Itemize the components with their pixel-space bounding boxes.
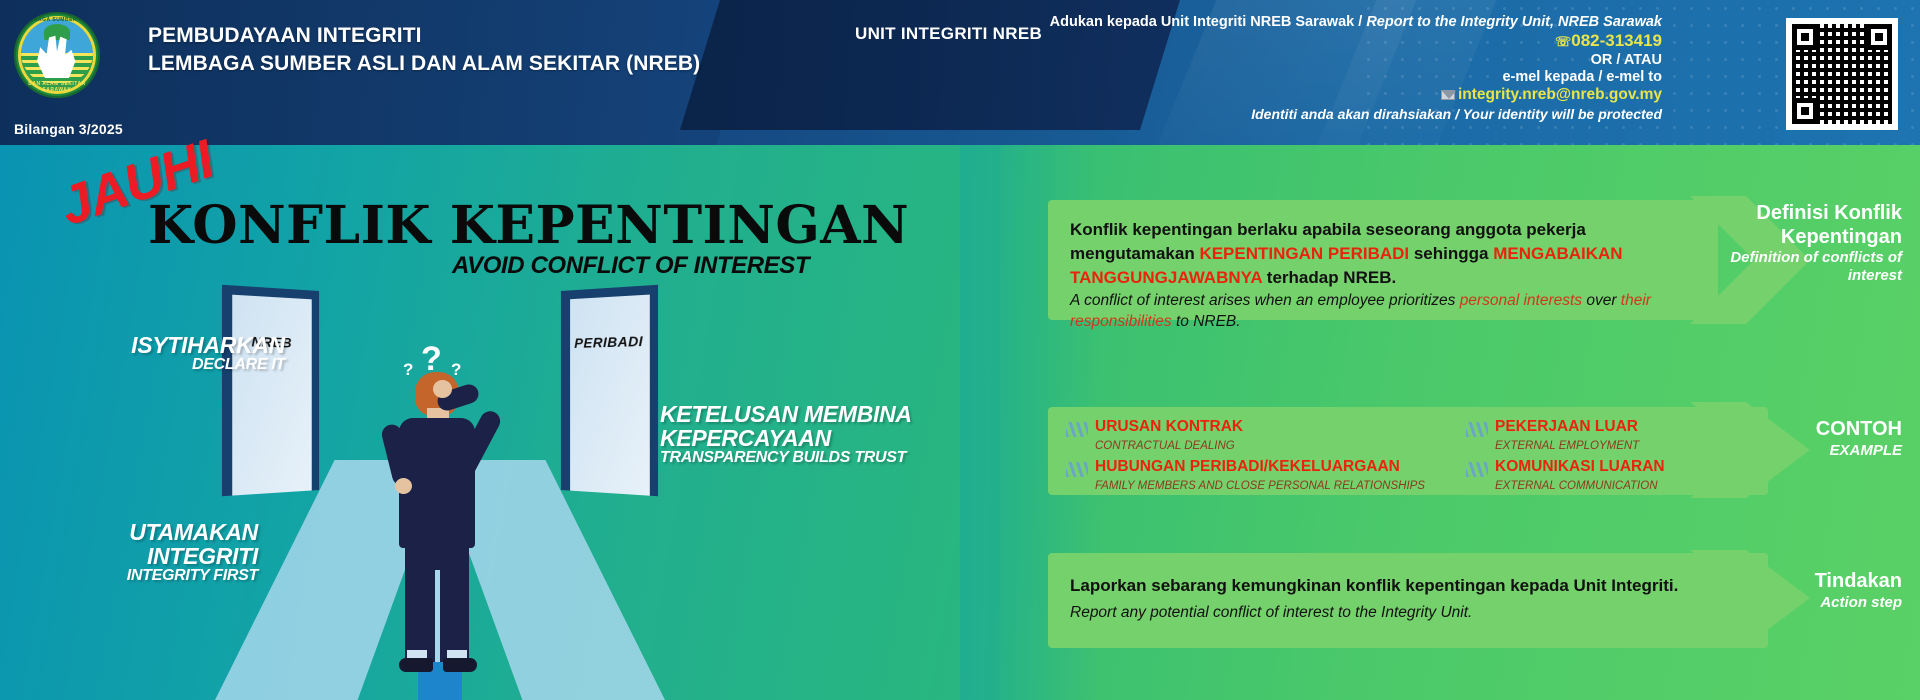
door-nreb: NREB — [222, 285, 319, 496]
examples-tab-en: EXAMPLE — [1702, 442, 1902, 460]
example-ms: PEKERJAAN LUAR — [1495, 418, 1638, 435]
bullet-stripes-icon — [1466, 422, 1488, 437]
contact-block: Adukan kepada Unit Integriti NREB Sarawa… — [922, 14, 1662, 122]
report-line: Adukan kepada Unit Integriti NREB Sarawa… — [922, 14, 1662, 30]
person-left-hand — [395, 478, 412, 494]
person-right-shoe — [443, 658, 477, 672]
qr-finder-bottom-left — [1792, 98, 1818, 124]
org-title-line1: PEMBUDAYAAN INTEGRITI — [148, 22, 700, 50]
person-figure: ? ? ? — [375, 358, 505, 678]
definition-tab-en: Definition of conflicts of interest — [1702, 249, 1902, 284]
slogan-integrity-ms: UTAMAKAN INTEGRITI — [28, 520, 258, 568]
slogan-declare-ms: ISYTIHARKAN — [105, 333, 285, 357]
identity-note: Identiti anda akan dirahsiakan / Your id… — [922, 106, 1662, 122]
logo-leaf-icon — [44, 24, 70, 40]
slogan-transparency-ms: KETELUSAN MEMBINA KEPERCAYAAN — [660, 402, 960, 450]
definition-en-part3: to NREB. — [1172, 313, 1241, 330]
definition-ms-part2: sehingga — [1409, 244, 1493, 263]
definition-text-ms: Konflik kepentingan berlaku apabila sese… — [1070, 218, 1700, 290]
example-en: CONTRACTUAL DEALING — [1095, 440, 1235, 452]
action-panel — [1048, 553, 1768, 648]
example-en: EXTERNAL EMPLOYMENT — [1495, 440, 1639, 452]
person-left-shoe — [399, 658, 433, 672]
action-tab-ms: Tindakan — [1702, 570, 1902, 594]
example-ms: HUBUNGAN PERIBADI/KEKELUARGAAN — [1095, 458, 1400, 475]
door-nreb-opening — [232, 295, 312, 496]
or-label: OR / ATAU — [922, 52, 1662, 68]
email-label: e-mel kepada / e-mel to — [922, 69, 1662, 85]
issue-number: Bilangan 3/2025 — [14, 121, 123, 137]
example-en: FAMILY MEMBERS AND CLOSE PERSONAL RELATI… — [1095, 480, 1425, 492]
bullet-stripes-icon — [1466, 462, 1488, 477]
question-mark-small-left: ? — [403, 360, 413, 380]
action-tab-en: Action step — [1702, 594, 1902, 612]
definition-ms-part3: terhadap NREB. — [1262, 268, 1396, 287]
qr-finder-top-right — [1866, 24, 1892, 50]
list-item: KOMUNIKASI LUARAN EXTERNAL COMMUNICATION — [1466, 458, 1766, 494]
example-ms: KOMUNIKASI LUARAN — [1495, 458, 1665, 475]
infographic-poster: LEMBAGA SUMBER ASLI DAN ALAM SEKITAR SAR… — [0, 0, 1920, 700]
definition-tab-label: Definisi Konflik Kepentingan Definition … — [1702, 202, 1902, 285]
door-peribadi: PERIBADI — [561, 285, 658, 496]
page-title: KONFLIK KEPENTINGAN — [148, 195, 909, 256]
report-line-ms: Adukan kepada Unit Integriti NREB Sarawa… — [1050, 14, 1355, 30]
slogan-transparency: KETELUSAN MEMBINA KEPERCAYAAN TRANSPAREN… — [660, 402, 960, 467]
list-item: URUSAN KONTRAK CONTRACTUAL DEALING — [1066, 418, 1466, 454]
definition-tab-ms: Definisi Konflik Kepentingan — [1702, 202, 1902, 249]
examples-list: URUSAN KONTRAK CONTRACTUAL DEALING PEKER… — [1066, 418, 1766, 494]
slogan-integrity: UTAMAKAN INTEGRITI INTEGRITY FIRST — [28, 520, 258, 585]
definition-en-part2: over — [1582, 292, 1621, 309]
slogan-transparency-en: TRANSPARENCY BUILDS TRUST — [660, 450, 960, 467]
phone-icon: ☏ — [1555, 34, 1571, 49]
report-line-separator: / — [1358, 14, 1362, 30]
person-leg-gap — [435, 570, 440, 662]
envelope-icon — [1441, 90, 1455, 100]
phone-number: 082-313419 — [1571, 31, 1662, 50]
action-tab-label: Tindakan Action step — [1702, 570, 1902, 611]
examples-tab-ms: CONTOH — [1702, 418, 1902, 442]
door-peribadi-label: PERIBADI — [561, 332, 658, 351]
page-header: LEMBAGA SUMBER ASLI DAN ALAM SEKITAR SAR… — [0, 0, 1920, 145]
report-line-en: Report to the Integrity Unit, NREB Saraw… — [1366, 14, 1662, 30]
email-address: integrity.nreb@nreb.gov.my — [1458, 86, 1662, 103]
qr-code[interactable] — [1786, 18, 1898, 130]
slogan-declare: ISYTIHARKAN DECLARE IT — [105, 333, 285, 374]
doors-illustration: NREB PERIBADI ? ? ? — [230, 270, 650, 700]
contact-email[interactable]: integrity.nreb@nreb.gov.my — [922, 86, 1662, 104]
example-en: EXTERNAL COMMUNICATION — [1495, 480, 1658, 492]
org-title-line2: LEMBAGA SUMBER ASLI DAN ALAM SEKITAR (NR… — [148, 50, 700, 78]
qr-code-pattern — [1792, 24, 1892, 124]
person-right-hand — [433, 380, 452, 398]
definition-text-en: A conflict of interest arises when an em… — [1070, 290, 1700, 333]
example-ms: URUSAN KONTRAK — [1095, 418, 1243, 435]
qr-finder-top-left — [1792, 24, 1818, 50]
definition-ms-highlight1: KEPENTINGAN PERIBADI — [1199, 244, 1409, 263]
logo-text-bottom: DAN ALAM SEKITAR SARAWAK — [14, 81, 100, 93]
door-peribadi-opening — [570, 295, 650, 496]
examples-tab-label: CONTOH EXAMPLE — [1702, 418, 1902, 459]
logo-text-top: LEMBAGA SUMBER ASLI — [14, 17, 100, 23]
action-text-en: Report any potential conflict of interes… — [1070, 604, 1730, 622]
contact-phone[interactable]: ☏082-313419 — [922, 31, 1662, 51]
bullet-stripes-icon — [1066, 422, 1088, 437]
org-title: PEMBUDAYAAN INTEGRITI LEMBAGA SUMBER ASL… — [148, 22, 700, 77]
slogan-integrity-en: INTEGRITY FIRST — [28, 568, 258, 585]
nreb-logo: LEMBAGA SUMBER ASLI DAN ALAM SEKITAR SAR… — [14, 12, 100, 98]
definition-en-part1: A conflict of interest arises when an em… — [1070, 292, 1460, 309]
definition-en-highlight1: personal interests — [1460, 292, 1582, 309]
bullet-stripes-icon — [1066, 462, 1088, 477]
action-text-ms: Laporkan sebarang kemungkinan konflik ke… — [1070, 576, 1730, 596]
slogan-declare-en: DECLARE IT — [105, 357, 285, 374]
list-item: HUBUNGAN PERIBADI/KEKELUARGAAN FAMILY ME… — [1066, 458, 1466, 494]
